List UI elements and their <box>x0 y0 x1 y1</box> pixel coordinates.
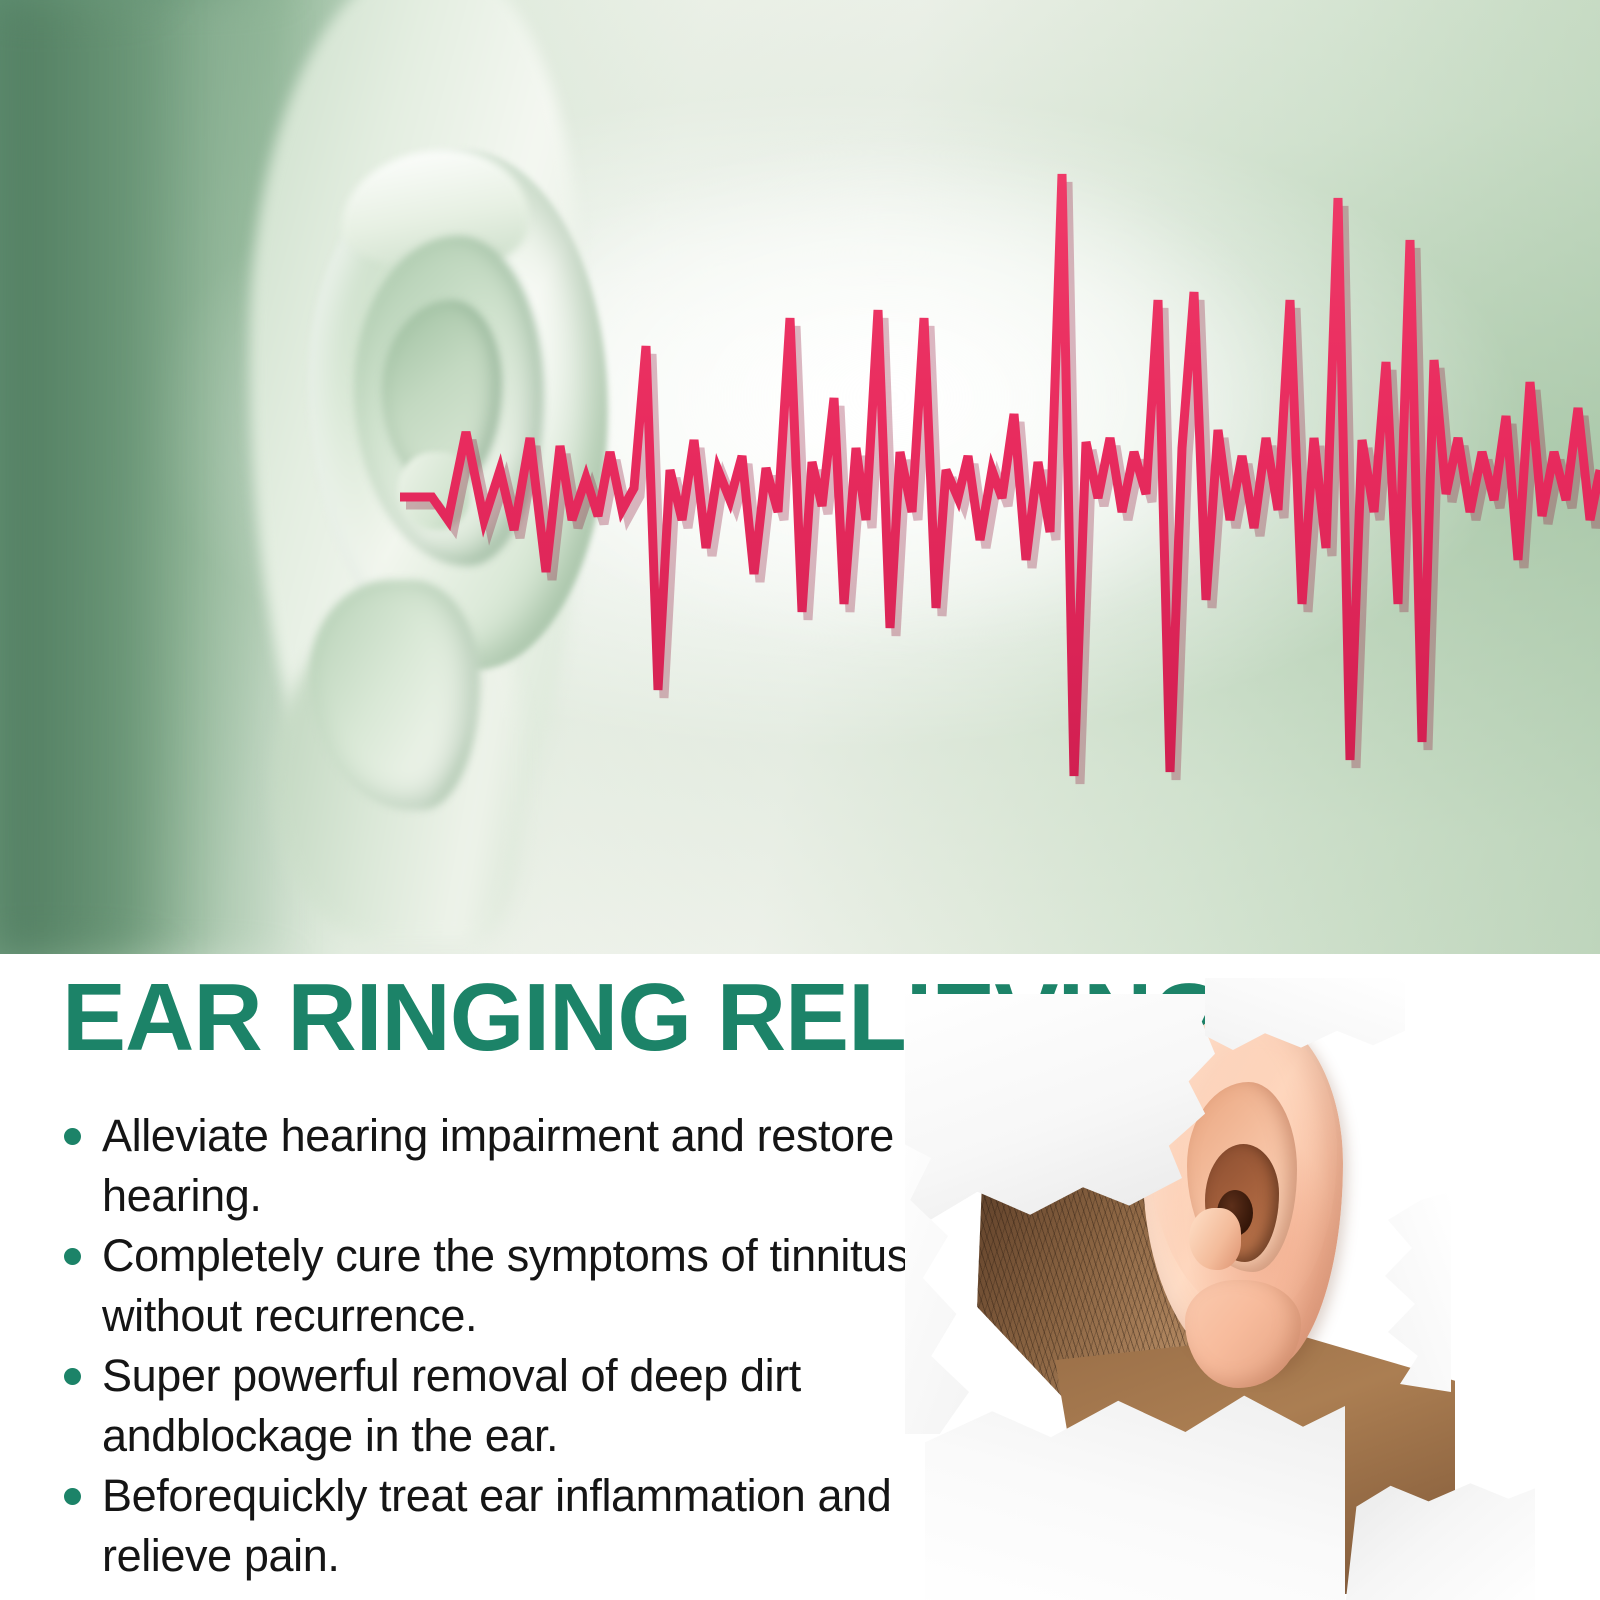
list-item: Super powerful removal of deep dirt andb… <box>62 1346 972 1466</box>
bullet-dot-icon <box>64 1248 81 1265</box>
benefit-list: Alleviate hearing impairment and restore… <box>62 1106 972 1586</box>
tragus-shape <box>1189 1208 1241 1270</box>
soundwave-icon <box>0 0 1600 954</box>
torn-paper-icon <box>905 954 1600 1600</box>
list-item-label: Completely cure the symptoms of tinnitus… <box>102 1230 909 1341</box>
earlobe-shape <box>1185 1280 1301 1388</box>
list-item-label: Alleviate hearing impairment and restore… <box>102 1110 894 1221</box>
list-item: Completely cure the symptoms of tinnitus… <box>62 1226 972 1346</box>
list-item: Beforequickly treat ear inflammation and… <box>62 1466 972 1586</box>
bullet-dot-icon <box>64 1368 81 1385</box>
product-infographic: EAR RINGING RELIEVING Alleviate hearing … <box>0 0 1600 1600</box>
list-item-label: Super powerful removal of deep dirt andb… <box>102 1350 801 1461</box>
hero-image <box>0 0 1600 954</box>
list-item-label: Beforequickly treat ear inflammation and… <box>102 1470 891 1581</box>
bullet-dot-icon <box>64 1128 81 1145</box>
list-item: Alleviate hearing impairment and restore… <box>62 1106 972 1226</box>
info-panel: EAR RINGING RELIEVING Alleviate hearing … <box>0 954 1600 1600</box>
bullet-dot-icon <box>64 1488 81 1505</box>
